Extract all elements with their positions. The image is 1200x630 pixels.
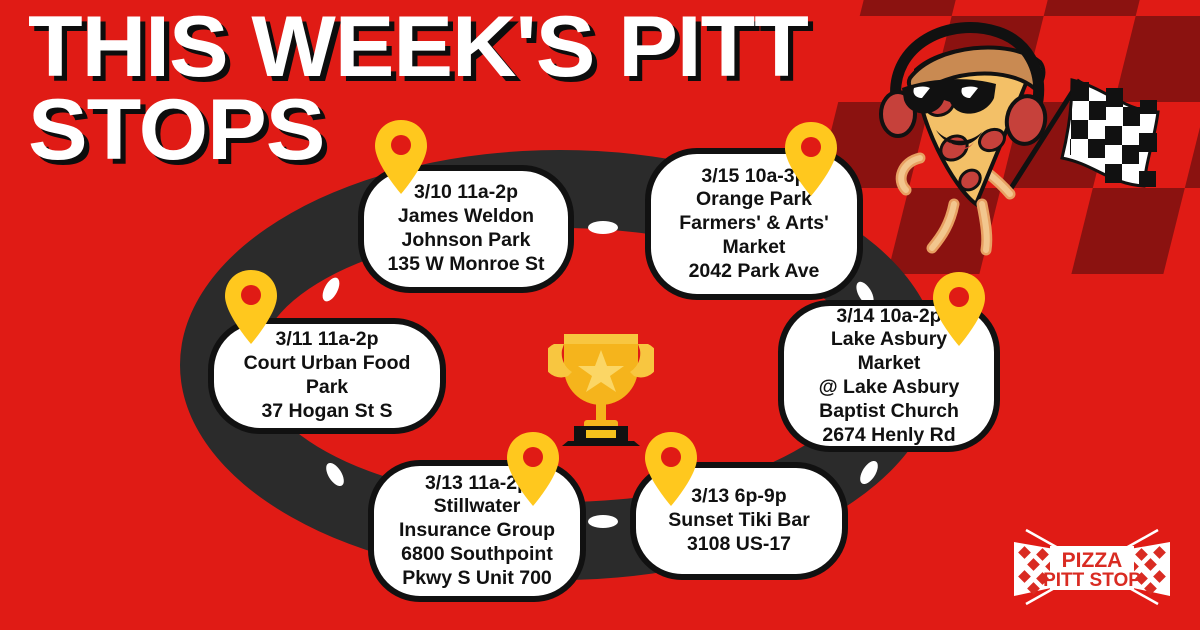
map-pin-icon: [930, 270, 988, 348]
pizza-slice-mascot: [858, 8, 1188, 258]
poster-canvas: THIS WEEK'S PITT STOPS 3/10 11a-2p James…: [0, 0, 1200, 630]
logo-line1: PIZZA: [1062, 549, 1123, 572]
track-dash: [588, 221, 618, 234]
trophy-icon: [548, 326, 654, 446]
track-dash: [588, 515, 618, 528]
page-title: THIS WEEK'S PITT STOPS: [28, 6, 881, 171]
brand-logo: PIZZA PITT STOP: [1008, 520, 1176, 612]
map-pin-icon: [504, 430, 562, 508]
map-pin-icon: [642, 430, 700, 508]
map-pin-icon: [222, 268, 280, 346]
logo-line2: PITT STOP: [1043, 570, 1141, 591]
